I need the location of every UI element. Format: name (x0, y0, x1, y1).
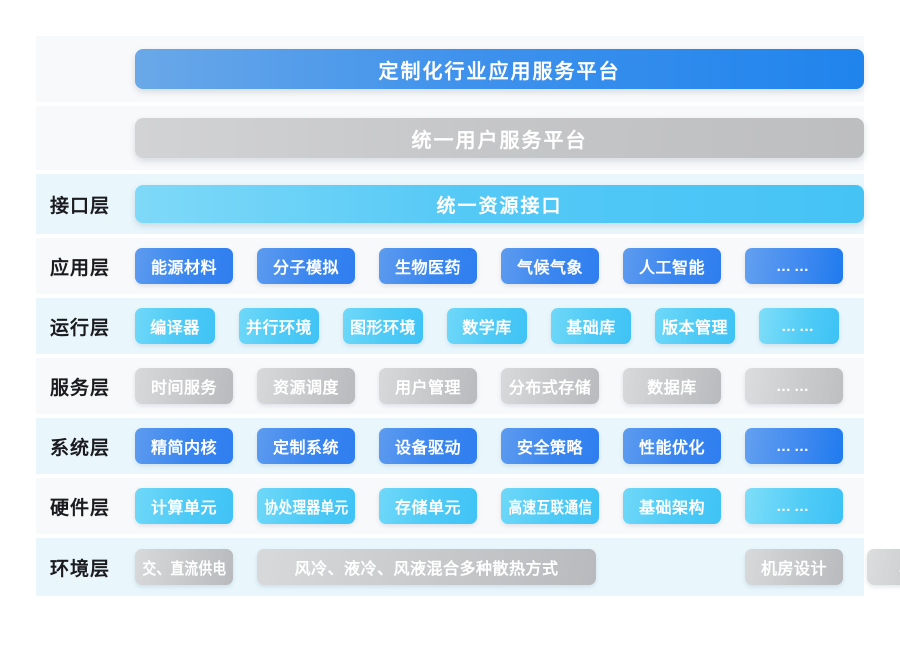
chip-label: 气候气象 (517, 254, 583, 278)
chip-3-5[interactable]: …… (745, 368, 843, 404)
chip-4-4[interactable]: 性能优化 (623, 428, 721, 464)
layer-label-application: 应用层 (36, 253, 135, 280)
chip-label: 风冷、液冷、风液混合多种散热方式 (294, 555, 558, 579)
row-interface-layer: 接口层 统一资源接口 (36, 174, 864, 234)
chip-group-application: 能源材料分子模拟生物医药气候气象人工智能…… (135, 248, 864, 284)
chip-6-1[interactable]: 风冷、液冷、风液混合多种散热方式 (257, 549, 596, 585)
chip-4-0[interactable]: 精简内核 (135, 428, 233, 464)
chip-5-5[interactable]: …… (745, 488, 843, 524)
layer-label-hardware: 硬件层 (36, 493, 135, 520)
chip-2-4[interactable]: 基础库 (551, 308, 631, 344)
chip-label: 数学库 (462, 314, 512, 338)
platform-banner-wrap: 定制化行业应用服务平台 (135, 49, 864, 89)
chip-1-5[interactable]: …… (745, 248, 843, 284)
chip-group-environment: 交、直流供电风冷、液冷、风液混合多种散热方式机房设计…… (135, 549, 900, 585)
chip-1-3[interactable]: 气候气象 (501, 248, 599, 284)
banner-unified-resource-interface[interactable]: 统一资源接口 (135, 185, 864, 223)
chip-2-1[interactable]: 并行环境 (239, 308, 319, 344)
chip-label: 版本管理 (662, 314, 728, 338)
chip-5-2[interactable]: 存储单元 (379, 488, 477, 524)
row-service-layer: 服务层 时间服务资源调度用户管理分布式存储数据库…… (36, 358, 864, 414)
chip-label: 能源材料 (151, 254, 217, 278)
chip-label: 编译器 (150, 314, 200, 338)
chip-label: 基础库 (566, 314, 616, 338)
chip-4-2[interactable]: 设备驱动 (379, 428, 477, 464)
chip-3-2[interactable]: 用户管理 (379, 368, 477, 404)
chip-1-0[interactable]: 能源材料 (135, 248, 233, 284)
chip-group-hardware: 计算单元协处理器单元存储单元高速互联通信基础架构…… (135, 488, 864, 524)
chip-3-3[interactable]: 分布式存储 (501, 368, 599, 404)
chip-4-1[interactable]: 定制系统 (257, 428, 355, 464)
chip-label: 分子模拟 (273, 254, 339, 278)
chip-6-3[interactable]: …… (867, 549, 900, 585)
chip-3-4[interactable]: 数据库 (623, 368, 721, 404)
interface-banner-wrap: 统一资源接口 (135, 185, 864, 223)
chip-group-service: 时间服务资源调度用户管理分布式存储数据库…… (135, 368, 864, 404)
row-environment-layer: 环境层 交、直流供电风冷、液冷、风液混合多种散热方式机房设计…… (36, 538, 864, 596)
chip-label: 并行环境 (246, 314, 312, 338)
chip-label: 交、直流供电 (142, 555, 226, 579)
chip-2-2[interactable]: 图形环境 (343, 308, 423, 344)
chip-label: 人工智能 (639, 254, 705, 278)
chip-label: …… (776, 258, 812, 275)
chip-6-0[interactable]: 交、直流供电 (135, 549, 233, 585)
chip-label: …… (781, 318, 817, 335)
chip-5-4[interactable]: 基础架构 (623, 488, 721, 524)
chip-label: 机房设计 (761, 555, 827, 579)
chip-group-runtime: 编译器并行环境图形环境数学库基础库版本管理…… (135, 308, 864, 344)
chip-2-5[interactable]: 版本管理 (655, 308, 735, 344)
chip-label: 高速互联通信 (508, 494, 592, 518)
chip-4-3[interactable]: 安全策略 (501, 428, 599, 464)
chip-label: 基础架构 (639, 494, 705, 518)
chip-label: …… (776, 438, 812, 455)
chip-label: 协处理器单元 (264, 494, 348, 518)
chip-label: 生物医药 (395, 254, 461, 278)
chip-label: …… (776, 378, 812, 395)
row-user-platform: 统一用户服务平台 (36, 106, 864, 170)
row-platform: 定制化行业应用服务平台 (36, 36, 864, 102)
banner-user-platform[interactable]: 统一用户服务平台 (135, 118, 864, 158)
chip-label: 资源调度 (273, 374, 339, 398)
chip-label: 分布式存储 (509, 374, 592, 398)
row-application-layer: 应用层 能源材料分子模拟生物医药气候气象人工智能…… (36, 238, 864, 294)
banner-platform[interactable]: 定制化行业应用服务平台 (135, 49, 864, 89)
chip-label: 计算单元 (151, 494, 217, 518)
layer-label-service: 服务层 (36, 373, 135, 400)
layer-label-system: 系统层 (36, 433, 135, 460)
chip-label: …… (776, 498, 812, 515)
chip-label: 数据库 (647, 374, 697, 398)
chip-label: 性能优化 (639, 434, 705, 458)
chip-2-6[interactable]: …… (759, 308, 839, 344)
chip-1-2[interactable]: 生物医药 (379, 248, 477, 284)
chip-label: 用户管理 (395, 374, 461, 398)
chip-label: 精简内核 (151, 434, 217, 458)
chip-5-3[interactable]: 高速互联通信 (501, 488, 599, 524)
chip-5-1[interactable]: 协处理器单元 (257, 488, 355, 524)
chip-5-0[interactable]: 计算单元 (135, 488, 233, 524)
chip-3-1[interactable]: 资源调度 (257, 368, 355, 404)
layered-architecture-diagram: 定制化行业应用服务平台 统一用户服务平台 接口层 统一资源接口 应用层 能源材料… (36, 36, 864, 637)
chip-group-system: 精简内核定制系统设备驱动安全策略性能优化…… (135, 428, 864, 464)
chip-3-0[interactable]: 时间服务 (135, 368, 233, 404)
chip-6-2[interactable]: 机房设计 (745, 549, 843, 585)
layer-label-environment: 环境层 (36, 554, 135, 581)
chip-label: 图形环境 (350, 314, 416, 338)
chip-label: 定制系统 (273, 434, 339, 458)
user-platform-banner-wrap: 统一用户服务平台 (135, 118, 864, 158)
chip-1-4[interactable]: 人工智能 (623, 248, 721, 284)
row-hardware-layer: 硬件层 计算单元协处理器单元存储单元高速互联通信基础架构…… (36, 478, 864, 534)
chip-label: 存储单元 (395, 494, 461, 518)
chip-1-1[interactable]: 分子模拟 (257, 248, 355, 284)
chip-4-5[interactable]: …… (745, 428, 843, 464)
chip-label: 安全策略 (517, 434, 583, 458)
layer-label-runtime: 运行层 (36, 313, 135, 340)
layer-label-interface: 接口层 (36, 191, 135, 218)
row-system-layer: 系统层 精简内核定制系统设备驱动安全策略性能优化…… (36, 418, 864, 474)
chip-2-3[interactable]: 数学库 (447, 308, 527, 344)
chip-2-0[interactable]: 编译器 (135, 308, 215, 344)
chip-label: 设备驱动 (395, 434, 461, 458)
row-runtime-layer: 运行层 编译器并行环境图形环境数学库基础库版本管理…… (36, 298, 864, 354)
chip-label: 时间服务 (151, 374, 217, 398)
